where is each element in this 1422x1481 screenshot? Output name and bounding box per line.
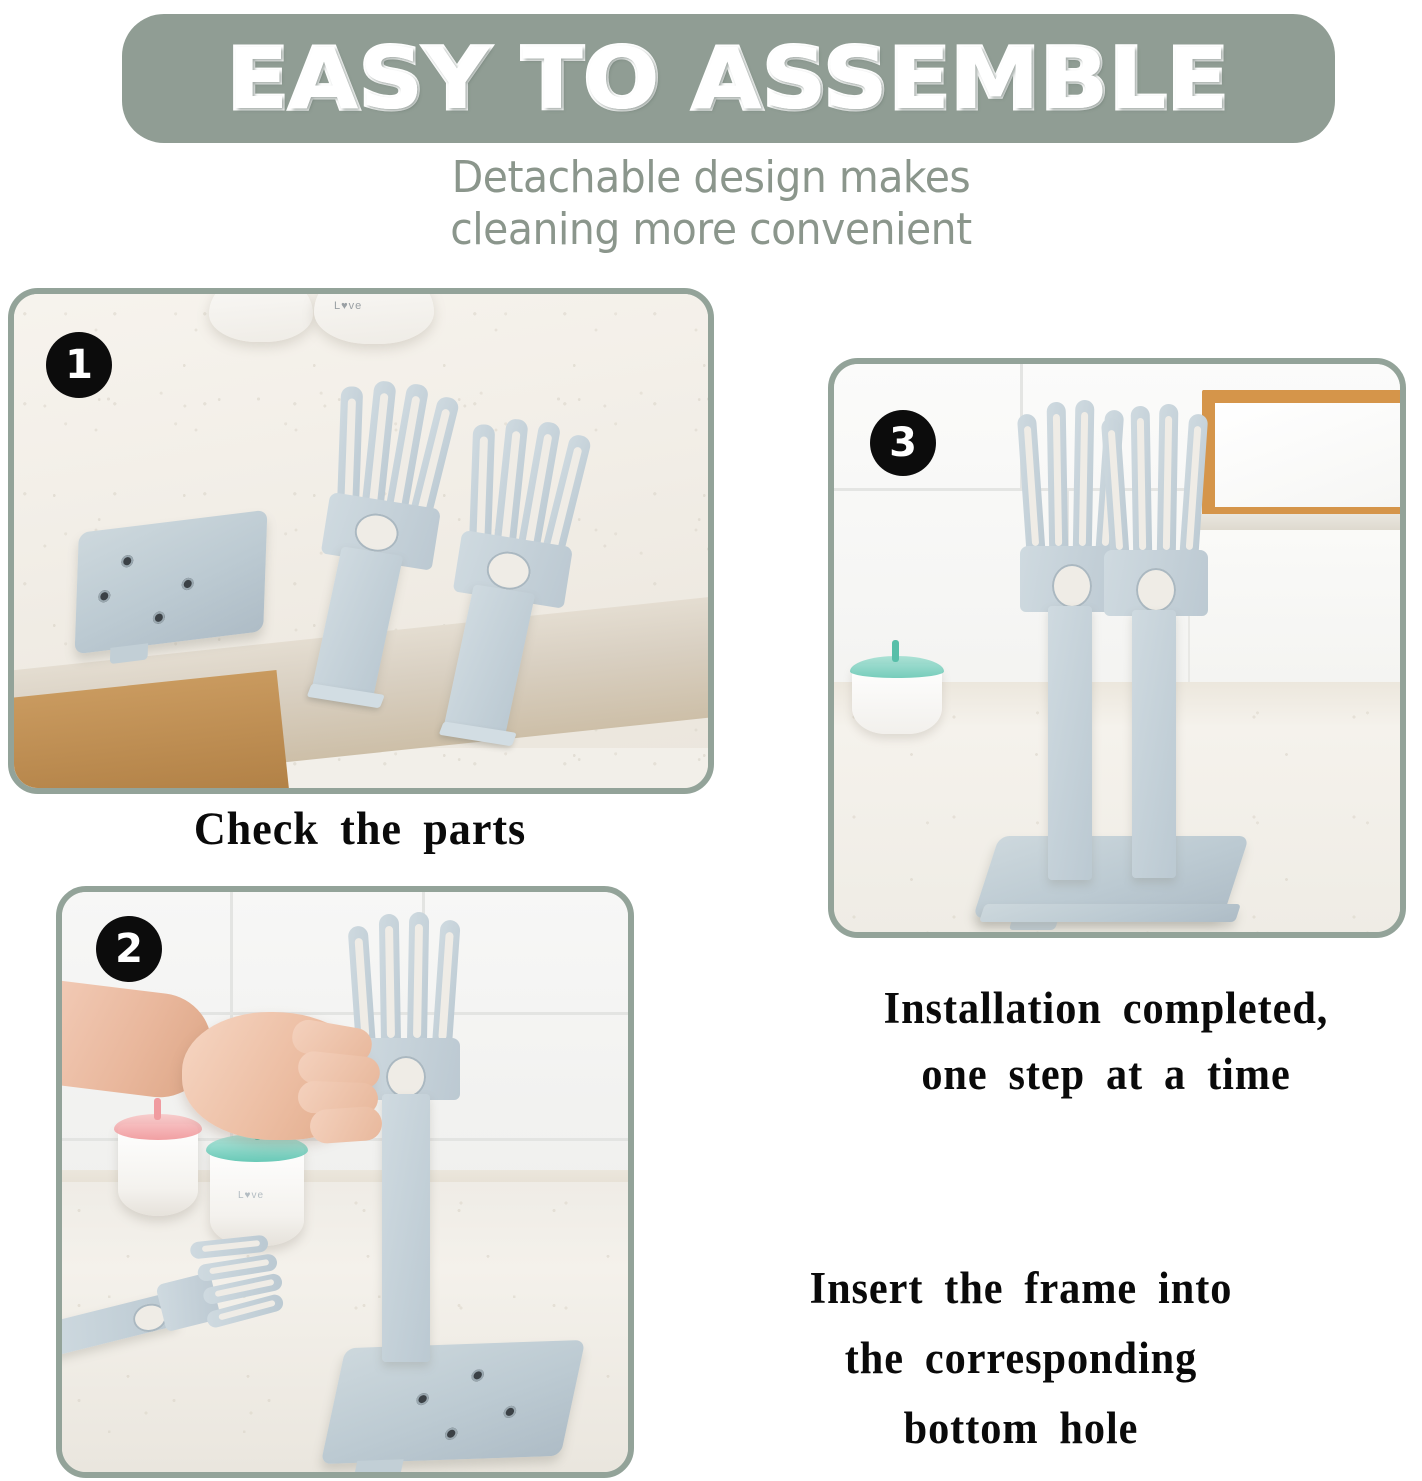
step-panel-2: L♥ve [56,886,634,1478]
assembled-frame-arm [1096,392,1266,872]
base-plate-front-lip [979,904,1241,922]
caption-3-line-2: one step at a time [818,1041,1393,1107]
header-subtitle: Detachable design makes cleaning more co… [50,152,1372,256]
step-caption-2: Insert the frame into the corresponding … [659,1253,1383,1463]
step-1-photo: L♥ve [14,294,708,788]
step-caption-3: Installation completed, one step at a ti… [818,975,1393,1107]
step-panel-3: 3 [828,358,1406,938]
jar-label: L♥ve [238,1190,264,1201]
step-badge-2: 2 [96,916,162,982]
step-badge-1: 1 [46,332,112,398]
jar-label: L♥ve [334,300,362,312]
step-panel-1: L♥ve [8,288,714,794]
caption-2-line-1: Insert the frame into [659,1253,1383,1323]
infographic-page: EASY TO ASSEMBLE Detachable design makes… [0,0,1422,1481]
jar-knob [154,1098,161,1120]
step-caption-1: Check the parts [78,800,642,858]
caption-3-line-1: Installation completed, [818,975,1393,1041]
thumb [309,1106,383,1145]
step-badge-3: 3 [870,410,936,476]
container-knob [892,640,899,662]
base-plate-part [75,510,268,655]
page-title: EASY TO ASSEMBLE [228,37,1230,121]
step-2-photo: L♥ve [62,892,628,1472]
subtitle-line-2: cleaning more convenient [50,204,1372,256]
subtitle-line-1: Detachable design makes [50,152,1372,204]
header-banner: EASY TO ASSEMBLE [122,14,1335,143]
caption-1-line-1: Check the parts [78,800,642,858]
caption-2-line-3: bottom hole [659,1393,1383,1463]
caption-2-line-2: the corresponding [659,1323,1383,1393]
